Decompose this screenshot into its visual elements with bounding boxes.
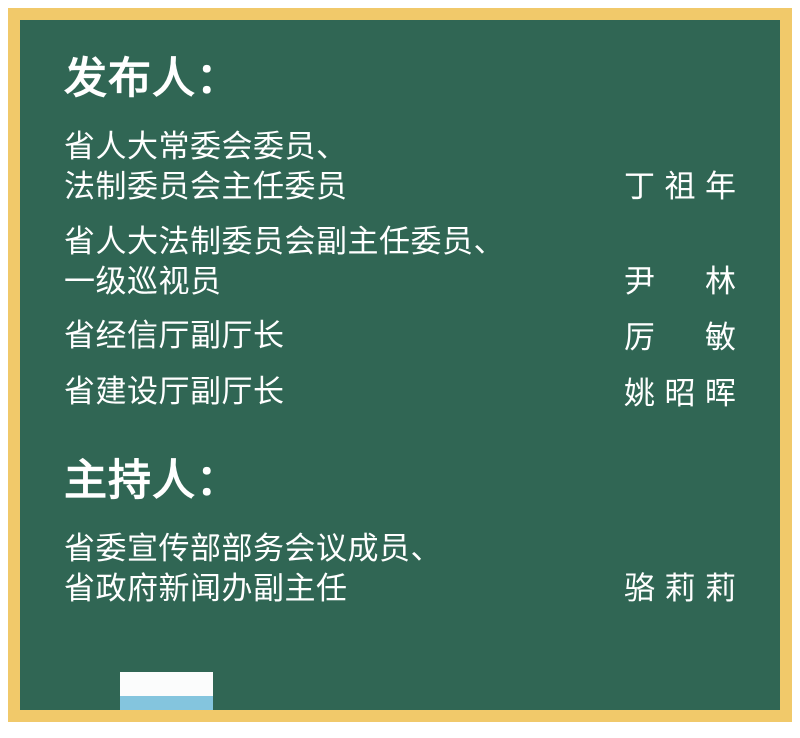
entry-title-line: 一级巡视员 — [64, 262, 624, 302]
entry-title-line: 省政府新闻办副主任 — [64, 569, 624, 609]
entry-title-line: 省委宣传部部务会议成员、 — [64, 529, 624, 569]
card-top-band — [120, 672, 213, 696]
section-host: 主持人： 省委宣传部部务会议成员、 省政府新闻办副主任 骆莉莉 — [64, 460, 736, 610]
chalkboard-panel: 发布人： 省人大常委会委员、 法制委员会主任委员 丁祖年 省人大法制委员会副主任 — [20, 20, 780, 710]
entry-name: 丁祖年 — [624, 167, 736, 207]
card-bottom-band — [120, 696, 213, 710]
entry-title-line: 省建设厅副厅长 — [64, 372, 624, 412]
list-item: 省经信厅副厅长 厉敏 — [64, 316, 736, 358]
section-heading-host: 主持人： — [64, 460, 736, 503]
entry-titles: 省人大法制委员会副主任委员、 一级巡视员 — [64, 222, 624, 303]
list-item: 省人大常委会委员、 法制委员会主任委员 丁祖年 — [64, 127, 736, 208]
poster-frame: 发布人： 省人大常委会委员、 法制委员会主任委员 丁祖年 省人大法制委员会副主任 — [8, 8, 792, 722]
entry-title-line: 省人大常委会委员、 — [64, 127, 624, 167]
entry-name: 尹林 — [624, 262, 736, 302]
list-item: 省人大法制委员会副主任委员、 一级巡视员 尹林 — [64, 222, 736, 303]
list-item: 省建设厅副厅长 姚昭晖 — [64, 372, 736, 414]
entry-titles: 省建设厅副厅长 — [64, 372, 624, 412]
entry-titles: 省人大常委会委员、 法制委员会主任委员 — [64, 127, 624, 208]
section-speakers: 发布人： 省人大常委会委员、 法制委员会主任委员 丁祖年 省人大法制委员会副主任 — [64, 58, 736, 414]
speaker-entry-list: 省人大常委会委员、 法制委员会主任委员 丁祖年 省人大法制委员会副主任委员、 一… — [64, 127, 736, 414]
entry-title-line: 省经信厅副厅长 — [64, 316, 624, 356]
entry-title-line: 省人大法制委员会副主任委员、 — [64, 222, 624, 262]
list-item: 省委宣传部部务会议成员、 省政府新闻办副主任 骆莉莉 — [64, 529, 736, 610]
entry-title-line: 法制委员会主任委员 — [64, 167, 624, 207]
entry-titles: 省委宣传部部务会议成员、 省政府新闻办副主任 — [64, 529, 624, 610]
entry-titles: 省经信厅副厅长 — [64, 316, 624, 356]
entry-name: 骆莉莉 — [624, 569, 736, 609]
bottom-partial-card — [120, 672, 213, 710]
entry-name: 姚昭晖 — [624, 374, 736, 414]
host-entry-list: 省委宣传部部务会议成员、 省政府新闻办副主任 骆莉莉 — [64, 529, 736, 610]
section-heading-speakers: 发布人： — [64, 58, 736, 101]
entry-name: 厉敏 — [624, 318, 736, 358]
poster-content: 发布人： 省人大常委会委员、 法制委员会主任委员 丁祖年 省人大法制委员会副主任 — [20, 20, 780, 710]
